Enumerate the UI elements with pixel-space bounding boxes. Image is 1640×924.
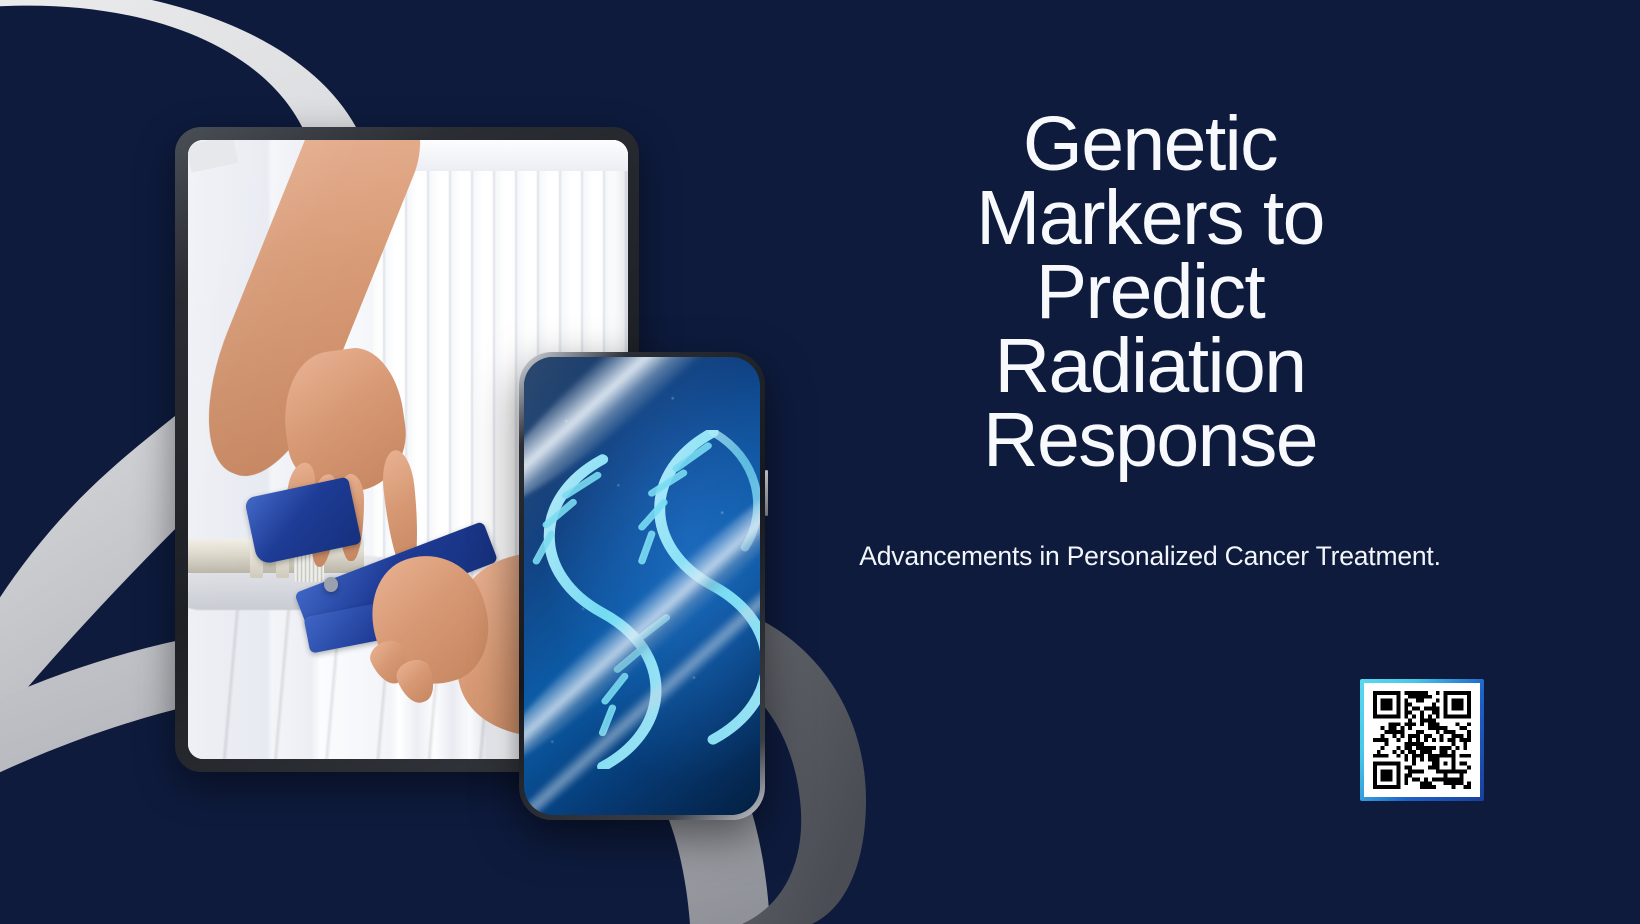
qr-code[interactable]	[1360, 679, 1484, 801]
page-title: Genetic Markers to Predict Radiation Res…	[790, 108, 1510, 478]
text-column: Genetic Markers to Predict Radiation Res…	[790, 108, 1510, 573]
subtitle: Advancements in Personalized Cancer Trea…	[790, 540, 1510, 573]
phone-power-button[interactable]	[765, 470, 768, 516]
phone-screen	[524, 357, 760, 815]
phone-mockup	[519, 352, 765, 820]
banner-canvas: Genetic Markers to Predict Radiation Res…	[0, 0, 1640, 924]
qr-code-image[interactable]	[1364, 683, 1480, 797]
headline-line-5: Response	[983, 397, 1317, 483]
